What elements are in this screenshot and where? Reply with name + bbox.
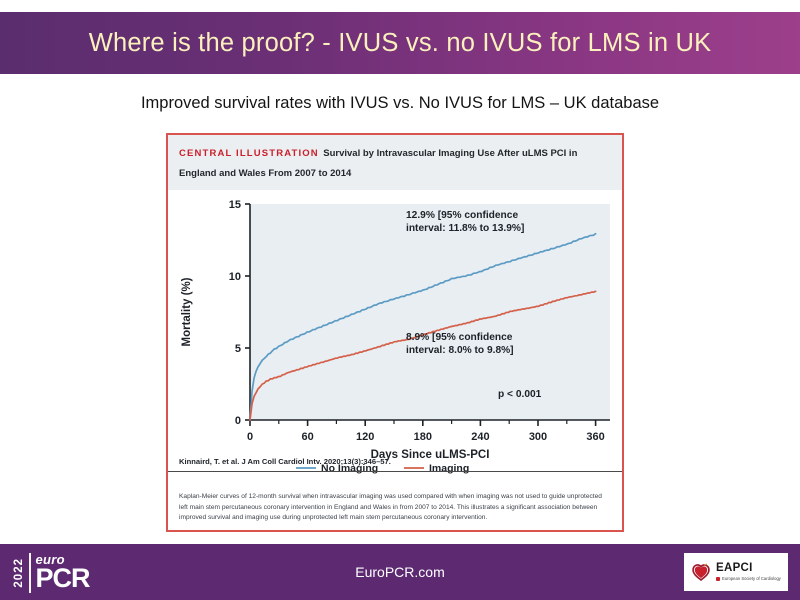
figure-header: CENTRAL ILLUSTRATION Survival by Intrava… bbox=[168, 135, 622, 190]
y-axis-title: Mortality (%) bbox=[181, 277, 193, 346]
eapci-logo: EAPCI European Society of Cardiology bbox=[684, 553, 788, 591]
plot-background bbox=[250, 204, 610, 420]
figure-footnote: Kaplan-Meier curves of 12-month survival… bbox=[168, 486, 622, 524]
x-tick-label: 0 bbox=[247, 431, 253, 443]
chart-canvas: 051015060120180240300360Days Since uLMS-… bbox=[168, 190, 624, 480]
page-title: Where is the proof? - IVUS vs. no IVUS f… bbox=[89, 29, 712, 58]
slide-title-bar: Where is the proof? - IVUS vs. no IVUS f… bbox=[0, 12, 800, 74]
y-tick-label: 15 bbox=[229, 199, 241, 211]
kaplan-meier-plot: 051015060120180240300360Days Since uLMS-… bbox=[168, 190, 624, 480]
annotation-line-2: interval: 11.8% to 13.9%] bbox=[406, 223, 524, 234]
heart-icon bbox=[691, 562, 711, 582]
annotation-p-value: p < 0.001 bbox=[498, 389, 542, 400]
central-illustration-figure: CENTRAL ILLUSTRATION Survival by Intrava… bbox=[166, 133, 624, 532]
annotation-line-1: 8.9% [95% confidence bbox=[406, 332, 513, 343]
x-tick-label: 240 bbox=[471, 431, 489, 443]
slide-subtitle: Improved survival rates with IVUS vs. No… bbox=[0, 94, 800, 113]
footer-site-link[interactable]: EuroPCR.com bbox=[0, 544, 800, 600]
x-tick-label: 120 bbox=[356, 431, 374, 443]
x-tick-label: 60 bbox=[301, 431, 313, 443]
x-tick-label: 300 bbox=[529, 431, 547, 443]
figure-citation: Kinnaird, T. et al. J Am Coll Cardiol In… bbox=[168, 457, 622, 472]
slide-footer: 2022 euro PCR EuroPCR.com EAPCI European… bbox=[0, 544, 800, 600]
central-illustration-tag: CENTRAL ILLUSTRATION bbox=[179, 148, 319, 159]
slide: Where is the proof? - IVUS vs. no IVUS f… bbox=[0, 0, 800, 600]
annotation-line-1: p < 0.001 bbox=[498, 389, 542, 400]
annotation-line-1: 12.9% [95% confidence bbox=[406, 210, 518, 221]
annotation-line-2: interval: 8.0% to 9.8%] bbox=[406, 345, 514, 356]
esc-dot-icon bbox=[716, 577, 720, 581]
y-tick-label: 0 bbox=[235, 415, 241, 427]
eapci-subtitle-text: European Society of Cardiology bbox=[722, 577, 781, 581]
eapci-subtitle: European Society of Cardiology bbox=[716, 577, 781, 581]
x-tick-label: 180 bbox=[414, 431, 432, 443]
y-tick-label: 10 bbox=[229, 271, 241, 283]
eapci-name: EAPCI bbox=[716, 563, 781, 575]
y-tick-label: 5 bbox=[235, 343, 241, 355]
x-tick-label: 360 bbox=[586, 431, 604, 443]
